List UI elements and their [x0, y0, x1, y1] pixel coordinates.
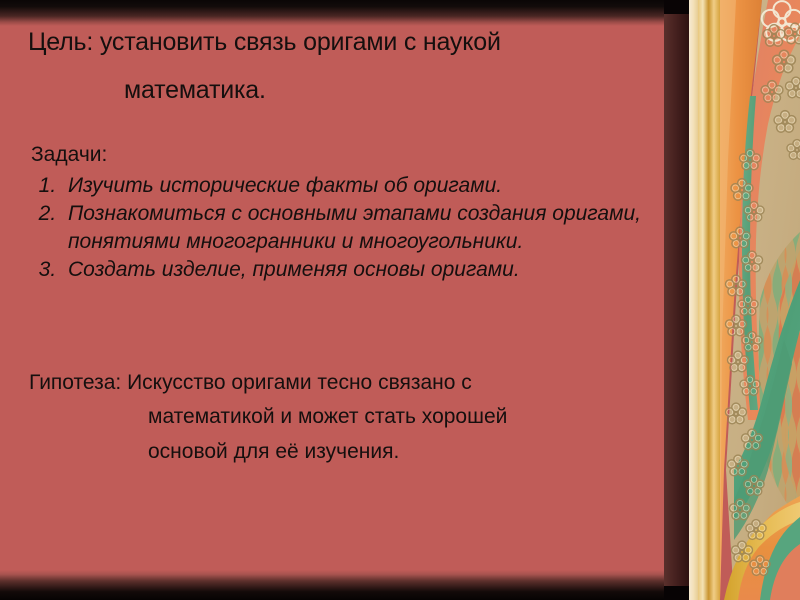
tasks-heading: Задачи:: [31, 143, 107, 167]
decorative-border: [664, 0, 800, 600]
presentation-slide: Цель: установить связь оригами с наукой …: [0, 0, 800, 600]
hypothesis-line-1: Гипотеза: Искусство оригами тесно связан…: [29, 371, 472, 395]
hypothesis-line-2: математикой и может стать хорошей: [148, 405, 507, 429]
list-item: Создать изделие, применяя основы оригами…: [62, 256, 662, 283]
list-item: Познакомиться с основными этапами создан…: [62, 200, 662, 255]
tasks-list: Изучить исторические факты об оригами. П…: [18, 172, 662, 284]
list-item: Изучить исторические факты об оригами.: [62, 172, 662, 199]
page-title-line-1: Цель: установить связь оригами с наукой: [28, 28, 501, 57]
slide-content: Цель: установить связь оригами с наукой …: [0, 0, 664, 600]
page-title-line-2: математика.: [124, 76, 266, 105]
hypothesis-line-3: основой для её изучения.: [148, 440, 399, 464]
